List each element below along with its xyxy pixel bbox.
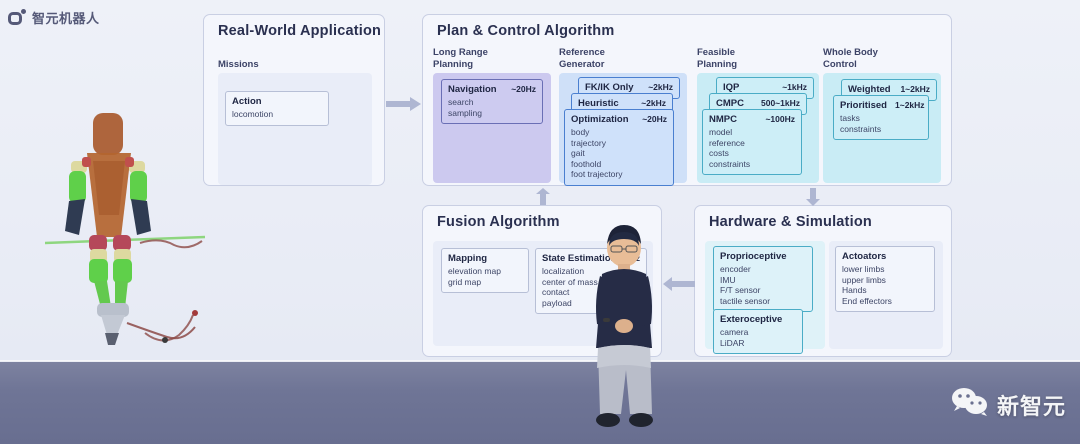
humanoid-robot-simulation	[45, 95, 205, 350]
card-rate-nmpc: ~100Hz	[765, 114, 795, 124]
panel-plan-control-algorithm: Plan & Control Algorithm Long Range Plan…	[422, 14, 952, 186]
card-name-optimization: Optimization	[571, 114, 629, 125]
column-label-reference-generator: Reference Generator	[559, 47, 605, 70]
panel-title-plan-control: Plan & Control Algorithm	[437, 23, 614, 39]
card-mapping: Mapping elevation map grid map	[441, 248, 529, 293]
card-items-mapping: elevation map grid map	[448, 266, 522, 287]
card-rate-optimization: ~20Hz	[642, 114, 667, 124]
column-label-whole-body-control: Whole Body Control	[823, 47, 878, 70]
panel-title-hardware: Hardware & Simulation	[709, 214, 872, 230]
card-exteroceptive: Exteroceptive camera LiDAR	[713, 309, 803, 354]
card-items-exteroceptive: camera LiDAR	[720, 327, 796, 348]
arrow-plan-to-hardware-icon	[805, 188, 821, 206]
card-rate-cmpc: 500~1kHz	[761, 98, 800, 108]
column-label-long-range-planning: Long Range Planning	[433, 47, 488, 70]
card-name-actoators: Actoators	[842, 251, 886, 262]
card-nmpc: NMPC ~100Hz model reference costs constr…	[702, 109, 802, 175]
card-rate-navigation: ~20Hz	[511, 84, 536, 94]
card-name-exteroceptive: Exteroceptive	[720, 314, 782, 325]
card-items-nmpc: model reference costs constraints	[709, 127, 795, 169]
card-items-prioritised: tasks constraints	[840, 113, 922, 134]
card-proprioceptive: Proprioceptive encoder IMU F/T sensor ta…	[713, 246, 813, 312]
card-items-actoators: lower limbs upper limbs Hands End effect…	[842, 264, 928, 306]
card-rate-weighted: 1~2kHz	[900, 84, 930, 94]
well-missions	[218, 73, 372, 185]
card-name-prioritised: Prioritised	[840, 100, 887, 111]
card-rate-prioritised: 1~2kHz	[895, 100, 925, 110]
slide-diagram: Real-World Application Missions Action l…	[0, 0, 1080, 364]
card-rate-iqp: ~1kHz	[782, 82, 807, 92]
arrow-app-to-plan-icon	[386, 96, 422, 112]
card-name-navigation: Navigation	[448, 84, 497, 95]
card-items-proprioceptive: encoder IMU F/T sensor tactile sensor	[720, 264, 806, 306]
wechat-icon	[950, 387, 990, 422]
card-actoators: Actoators lower limbs upper limbs Hands …	[835, 246, 935, 312]
card-name-nmpc: NMPC	[709, 114, 737, 125]
card-items-optimization: body trajectory gait foothold foot traje…	[571, 127, 667, 180]
panel-real-world-application: Real-World Application Missions Action l…	[203, 14, 385, 186]
watermark: 新智元	[950, 387, 1066, 422]
card-navigation: Navigation ~20Hz search sampling	[441, 79, 543, 124]
watermark-text: 新智元	[997, 389, 1066, 421]
card-name-heuristic: Heuristic	[578, 98, 619, 109]
card-rate-heuristic: ~2kHz	[641, 98, 666, 108]
card-name-action: Action	[232, 96, 262, 107]
card-action: Action locomotion	[225, 91, 329, 126]
arrow-fusion-to-plan-icon	[535, 188, 551, 206]
card-name-fk-ik-only: FK/IK Only	[585, 82, 634, 93]
panel-hardware-simulation: Hardware & Simulation Proprioceptive enc…	[694, 205, 952, 357]
card-name-proprioceptive: Proprioceptive	[720, 251, 787, 262]
card-items-navigation: search sampling	[448, 97, 536, 118]
card-name-mapping: Mapping	[448, 253, 487, 264]
card-items-action: locomotion	[232, 109, 322, 120]
panel-title-real-world: Real-World Application	[218, 23, 381, 39]
section-label-missions: Missions	[218, 59, 259, 71]
card-name-iqp: IQP	[723, 82, 739, 93]
floor	[0, 362, 1080, 444]
card-prioritised: Prioritised 1~2kHz tasks constraints	[833, 95, 929, 140]
card-name-cmpc: CMPC	[716, 98, 744, 109]
column-label-feasible-planning: Feasible Planning	[697, 47, 737, 70]
panel-title-fusion: Fusion Algorithm	[437, 214, 560, 230]
stage: 智元机器人 Real-World Application Missions Ac…	[0, 0, 1080, 444]
presenter-person	[578, 222, 670, 444]
card-optimization: Optimization ~20Hz body trajectory gait …	[564, 109, 674, 186]
card-rate-fk-ik-only: ~2kHz	[648, 82, 673, 92]
card-name-weighted: Weighted	[848, 84, 891, 95]
